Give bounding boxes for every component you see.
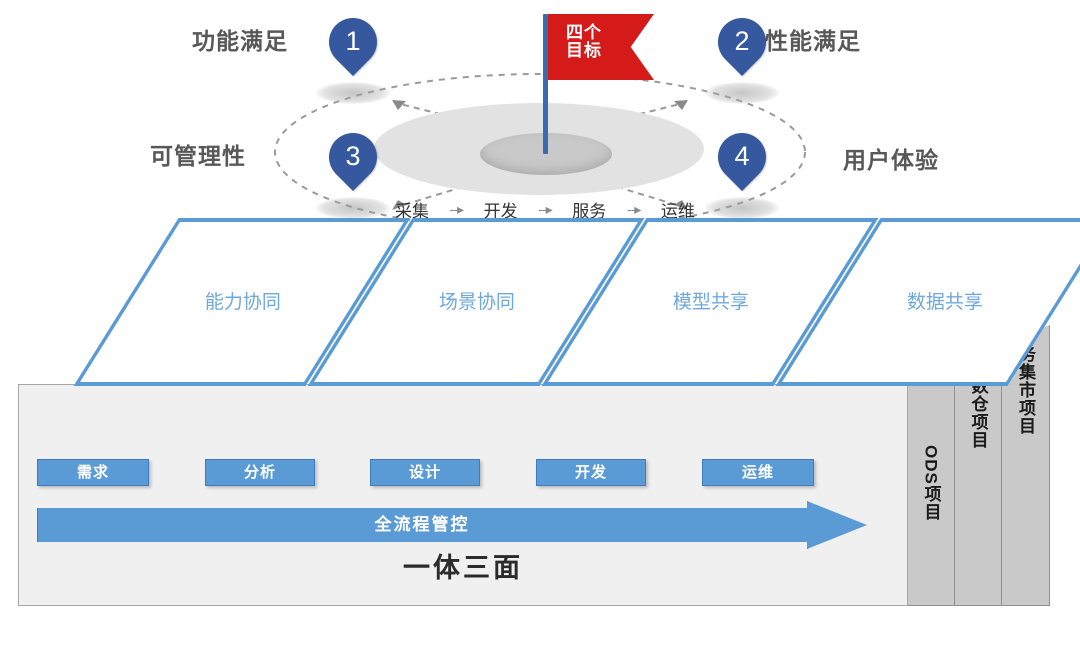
full-process-control-arrow: 全流程管控 — [37, 501, 867, 549]
arrow-label: 全流程管控 — [37, 501, 807, 549]
top-cell-label-4: 数据共享 — [833, 287, 1057, 314]
diagram-canvas: 四个 目标 功能满足 性能满足 可管理性 用户体验 1 2 3 4 采集 --▸… — [0, 0, 1080, 651]
map-pin-icon-1: 1 — [329, 18, 377, 88]
pin-number-4: 4 — [718, 136, 766, 176]
process-button-operations[interactable]: 运维 — [702, 459, 814, 486]
top-cell-label-1: 能力协同 — [131, 287, 355, 314]
flag-line-2: 目标 — [566, 42, 654, 60]
map-pin-icon-2: 2 — [718, 18, 766, 88]
goal-label-user-experience: 用户体验 — [843, 141, 939, 175]
process-button-requirements[interactable]: 需求 — [37, 459, 149, 486]
pin-number-2: 2 — [718, 21, 766, 61]
three-layer-box: ODS项目 数仓项目 财务集市项目 能力协同 场景协同 模型共享 — [0, 218, 1080, 638]
map-pin-icon-3: 3 — [329, 133, 377, 203]
side-panel-ods[interactable]: ODS项目 — [907, 384, 955, 606]
pin-number-3: 3 — [329, 136, 377, 176]
box-top-face: 能力协同 场景协同 模型共享 数据共享 — [18, 218, 1028, 386]
top-cell-label-3: 模型共享 — [599, 287, 823, 314]
process-button-analysis[interactable]: 分析 — [205, 459, 315, 486]
flag-line-1: 四个 — [566, 24, 654, 42]
ray-arrowhead-2 — [674, 100, 688, 110]
flag-pole — [543, 14, 548, 154]
process-button-design[interactable]: 设计 — [370, 459, 480, 486]
process-button-development[interactable]: 开发 — [536, 459, 646, 486]
flow-arrow-icon-1: --▸ — [450, 201, 463, 218]
box-title: 一体三面 — [18, 548, 908, 588]
map-pin-icon-4: 4 — [718, 133, 766, 203]
ray-arrowhead-1 — [392, 100, 406, 110]
goal-label-performance: 性能满足 — [765, 22, 861, 56]
side-panel-label-ods: ODS项目 — [919, 445, 944, 521]
goal-label-manageability: 可管理性 — [150, 137, 246, 171]
flow-arrow-icon-3: --▸ — [627, 201, 640, 218]
top-cell-label-2: 场景协同 — [365, 287, 589, 314]
goal-label-functionality: 功能满足 — [192, 22, 288, 56]
top-face-cells: 能力协同 场景协同 模型共享 数据共享 — [18, 218, 1028, 386]
pin-number-1: 1 — [329, 21, 377, 61]
side-panel-label-warehouse: 数仓项目 — [966, 377, 991, 449]
four-goals-flag: 四个 目标 — [548, 14, 654, 80]
flow-arrow-icon-2: --▸ — [538, 201, 551, 218]
